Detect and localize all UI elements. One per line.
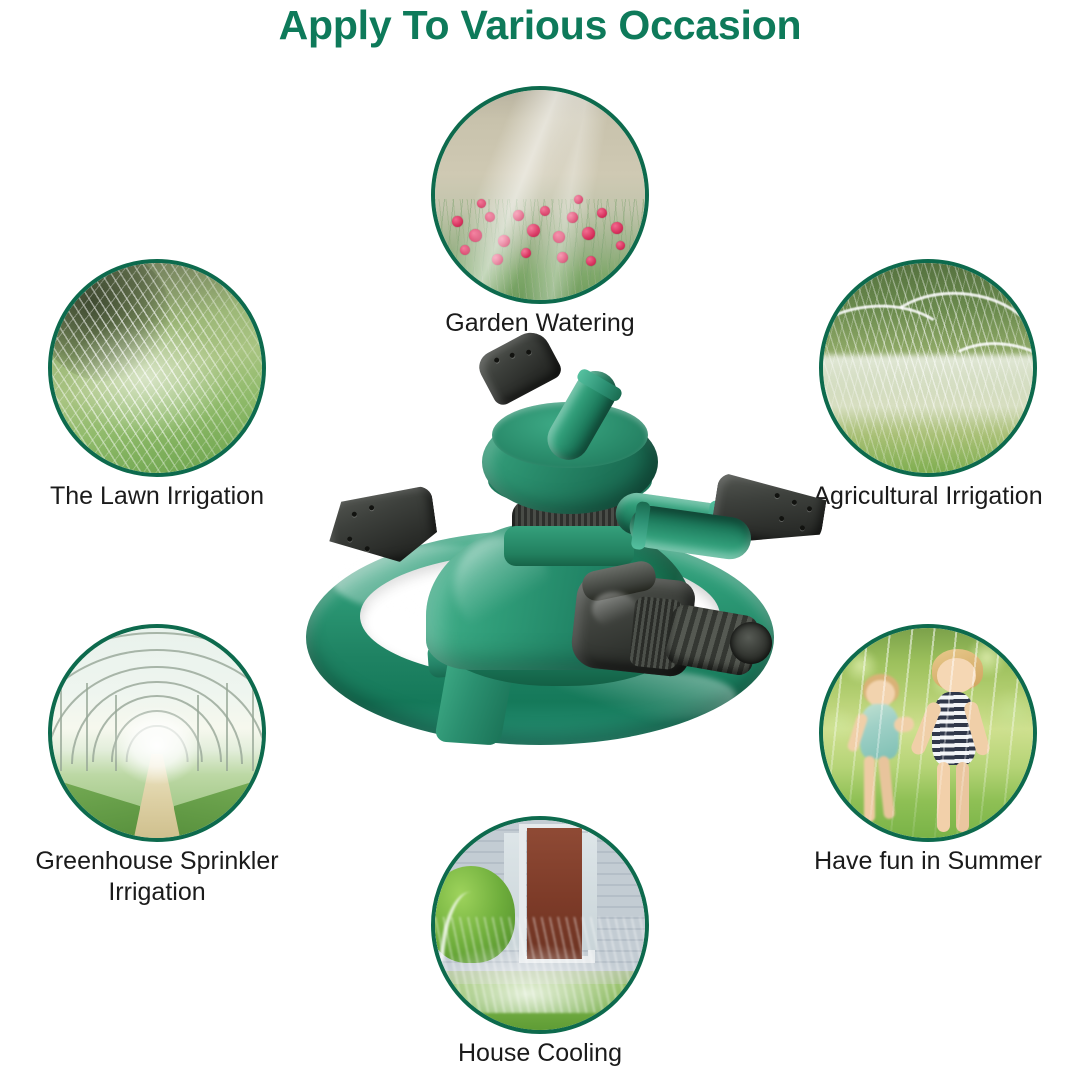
product-image-rotating-sprinkler bbox=[296, 340, 796, 805]
occasion-photo-agricultural-irrigation bbox=[819, 259, 1037, 477]
greenhouse-sunlight bbox=[52, 628, 262, 838]
occasion-photo-lawn-irrigation bbox=[48, 259, 266, 477]
occasion-card-lawn-irrigation: The Lawn Irrigation bbox=[48, 259, 266, 477]
occasion-label-lawn-irrigation: The Lawn Irrigation bbox=[0, 481, 336, 512]
lawn-spray-art bbox=[52, 263, 262, 473]
occasion-card-house-cooling: House Cooling bbox=[431, 816, 649, 1034]
occasion-photo-summer-fun bbox=[819, 624, 1037, 842]
occasion-card-garden-watering: Garden Watering bbox=[431, 86, 649, 304]
house-spray-mist bbox=[435, 917, 645, 1014]
house-cooling-art bbox=[435, 820, 645, 1030]
occasion-label-greenhouse-irrigation: Greenhouse Sprinkler Irrigation bbox=[0, 846, 336, 908]
page-title: Apply To Various Occasion bbox=[0, 2, 1080, 49]
occasion-photo-greenhouse-irrigation bbox=[48, 624, 266, 842]
agricultural-spray-art bbox=[823, 263, 1033, 473]
occasion-card-summer-fun: Have fun in Summer bbox=[819, 624, 1037, 842]
occasion-card-greenhouse-irrigation: Greenhouse Sprinkler Irrigation bbox=[48, 624, 266, 842]
garden-field-art bbox=[435, 90, 645, 300]
greenhouse-art bbox=[52, 628, 262, 838]
summer-kids-art bbox=[823, 628, 1033, 838]
occasion-label-summer-fun: Have fun in Summer bbox=[749, 846, 1080, 877]
occasion-card-agricultural-irrigation: Agricultural Irrigation bbox=[819, 259, 1037, 477]
occasion-label-house-cooling: House Cooling bbox=[361, 1038, 719, 1069]
occasion-photo-house-cooling bbox=[431, 816, 649, 1034]
agricultural-water-jets bbox=[823, 263, 1033, 473]
summer-water-drops bbox=[823, 628, 1033, 838]
lawn-water-jets bbox=[52, 263, 262, 473]
garden-water-haze bbox=[435, 90, 645, 300]
occasion-photo-garden-watering bbox=[431, 86, 649, 304]
infographic-canvas: Apply To Various Occasion bbox=[0, 0, 1080, 1080]
